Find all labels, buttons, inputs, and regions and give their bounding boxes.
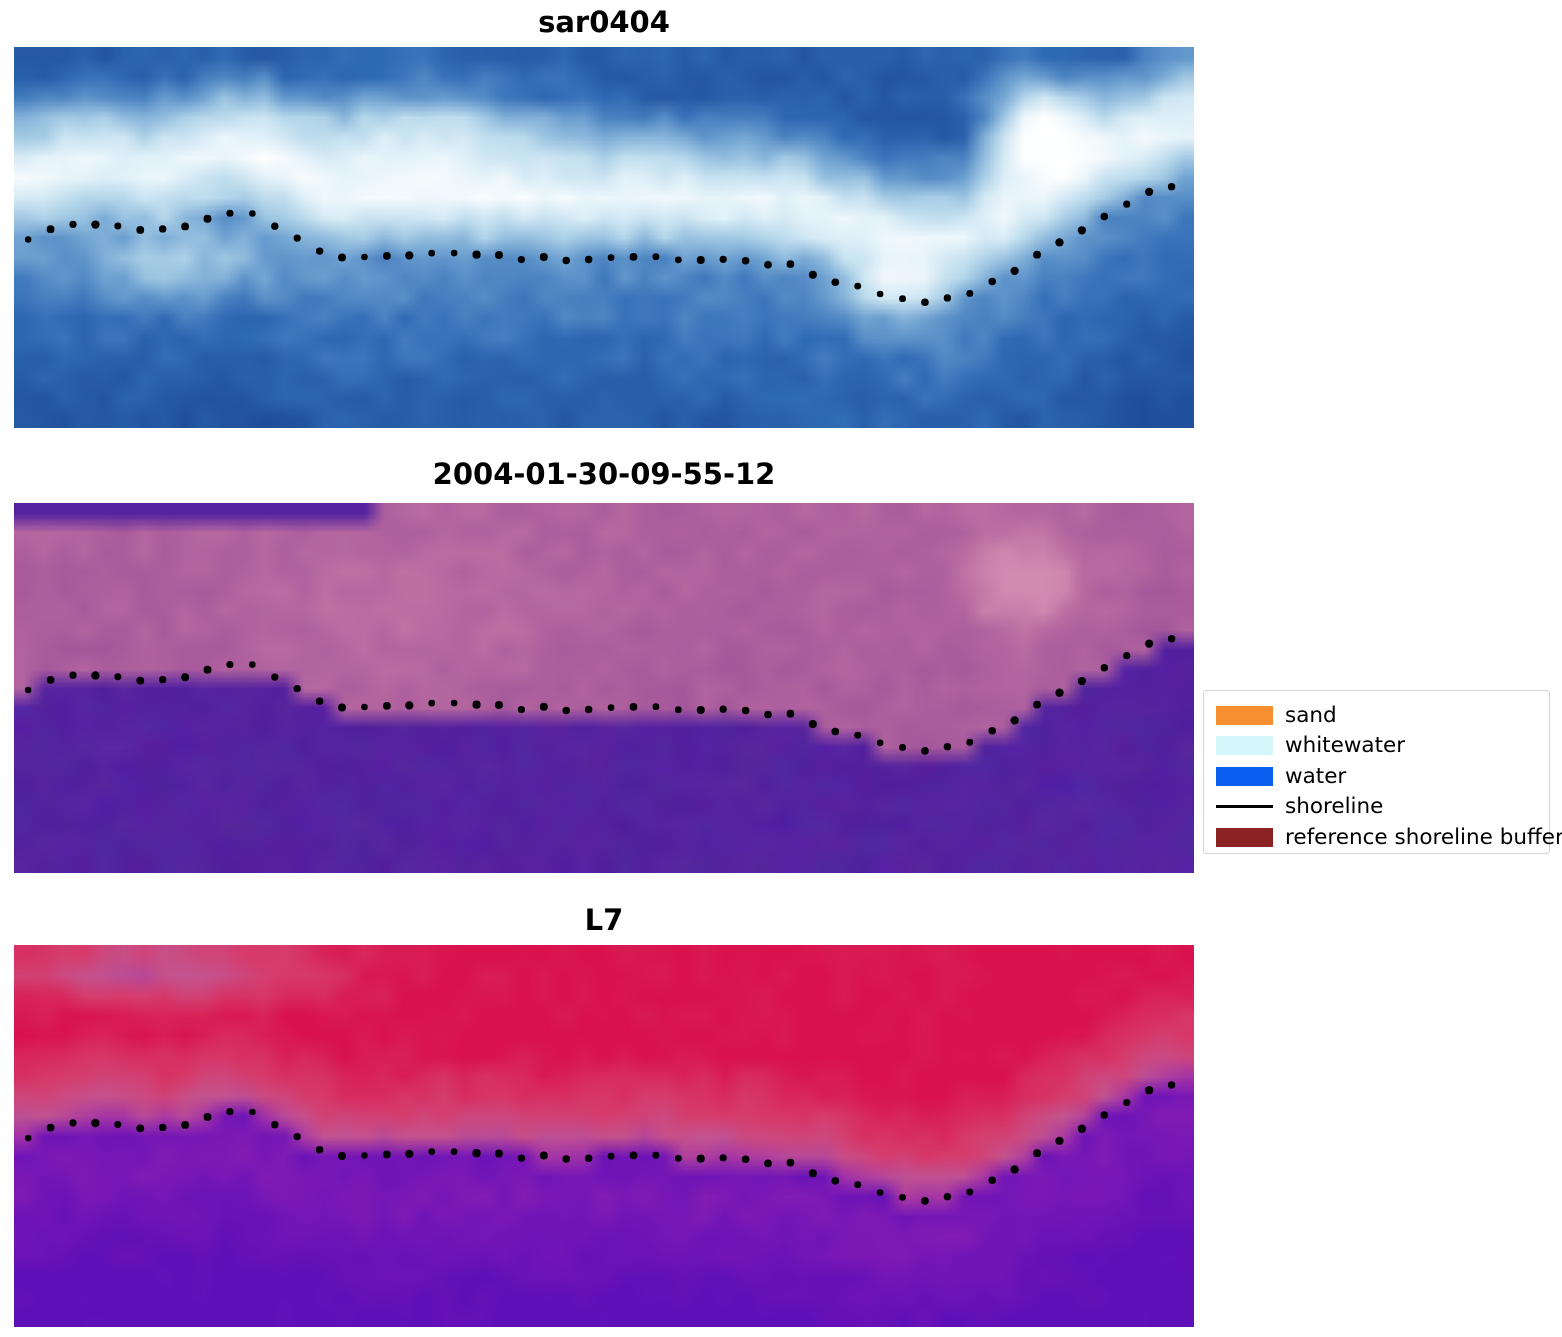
legend-item-whitewater: whitewater	[1216, 731, 1539, 762]
l7-image-canvas	[14, 945, 1194, 1327]
water-color-swatch	[1216, 767, 1273, 786]
shoreline-line-swatch	[1216, 797, 1273, 816]
whitewater-color-swatch	[1216, 736, 1273, 755]
legend-box: sand whitewater water shoreline referenc…	[1203, 690, 1550, 854]
legend-item-sand: sand	[1216, 700, 1539, 731]
legend-label-water: water	[1285, 766, 1346, 788]
panel-title-sar: sar0404	[0, 8, 1208, 37]
legend-label-shoreline: shoreline	[1285, 796, 1383, 818]
l7-image-panel	[14, 945, 1194, 1327]
sar-image-panel	[14, 47, 1194, 428]
sar-image-canvas	[14, 47, 1194, 428]
legend-label-sand: sand	[1285, 705, 1337, 727]
legend-item-reference-shoreline-buffer: reference shoreline buffer	[1216, 822, 1539, 853]
legend-item-shoreline: shoreline	[1216, 792, 1539, 823]
sand-color-swatch	[1216, 706, 1273, 725]
panel-title-l7: L7	[0, 906, 1208, 935]
classification-image-canvas	[14, 503, 1194, 873]
panel-title-date: 2004-01-30-09-55-12	[0, 460, 1208, 489]
legend-label-reference-shoreline-buffer: reference shoreline buffer	[1285, 827, 1562, 849]
legend-item-water: water	[1216, 761, 1539, 792]
classification-image-panel	[14, 503, 1194, 873]
legend-label-whitewater: whitewater	[1285, 735, 1405, 757]
reference-shoreline-buffer-color-swatch	[1216, 828, 1273, 847]
